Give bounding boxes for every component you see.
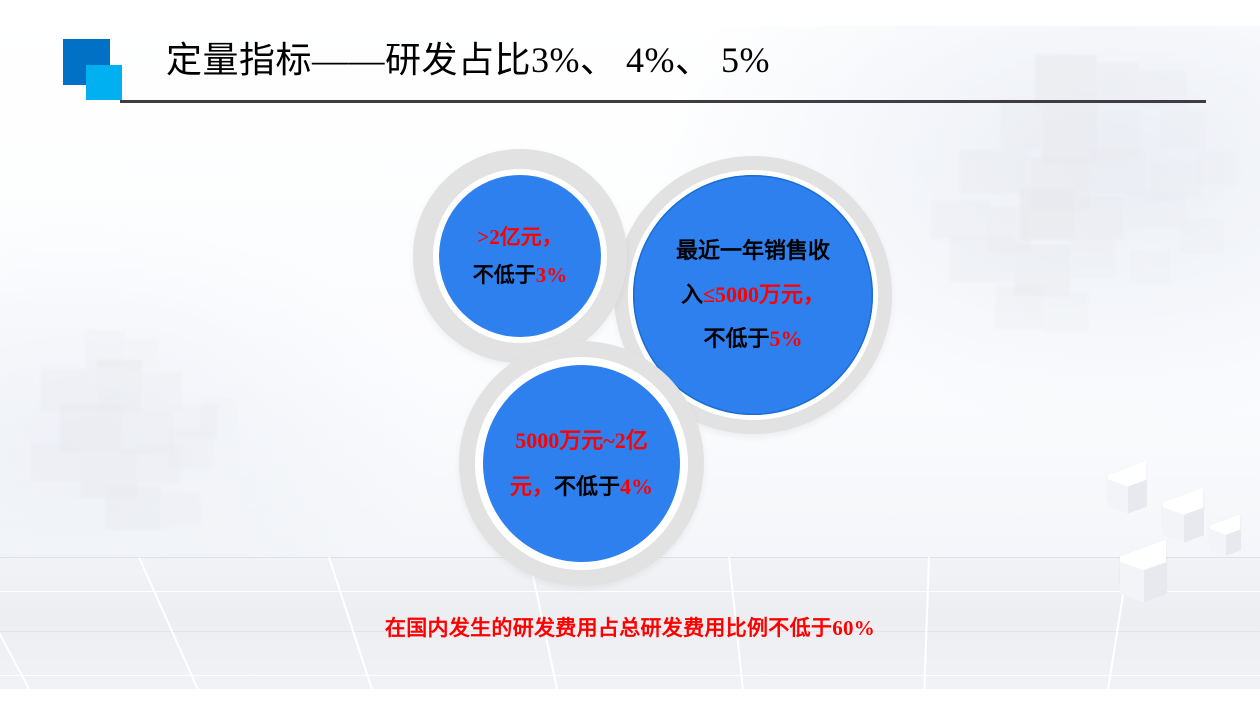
bubble-label-run: 不低于 (703, 326, 769, 351)
bubble-label: 5000万元~2亿元，不低于4% (502, 418, 661, 510)
bubble-revenue-50m-to-200m[interactable]: 5000万元~2亿元，不低于4% (459, 341, 704, 586)
bubble-label: >2亿元，不低于3% (465, 218, 576, 294)
bubble-label-run: 5% (770, 326, 803, 351)
map-pixel-block (85, 330, 125, 368)
slide-bottom-margin (0, 689, 1260, 715)
bubble-disc: 5000万元~2亿元，不低于4% (483, 365, 680, 562)
logo-square-light (86, 65, 122, 100)
map-pixel-block (122, 410, 174, 454)
map-pixel-block (995, 285, 1045, 329)
map-pixel-block (60, 404, 122, 452)
map-pixel-block (30, 442, 80, 482)
map-pixel-block (988, 206, 1032, 254)
map-pixel-block (1076, 196, 1124, 240)
map-pixel-block (96, 360, 142, 412)
bubble-label-run: 不低于 (554, 474, 620, 499)
bubble-label-run: 3% (536, 263, 568, 287)
bubble-label-run: 4% (620, 474, 653, 499)
map-pixel-block (1196, 150, 1236, 186)
map-pixel-block (1180, 218, 1224, 254)
map-pixel-block (960, 150, 1030, 194)
bubble-label-run: 元， (510, 474, 554, 499)
bubble-disc: >2亿元，不低于3% (439, 175, 601, 337)
map-pixel-block (80, 450, 138, 498)
title-divider (120, 100, 1206, 103)
map-pixel-block (142, 372, 182, 410)
map-pixel-block (1130, 250, 1170, 284)
map-pixel-block (1070, 238, 1116, 278)
bubble-label-run: ≤5000万元， (703, 282, 825, 307)
map-pixel-block (125, 338, 159, 370)
slide-canvas: 定量指标——研发占比3%、 4%、 5% >2亿元，不低于3% 最近一年销售收入… (0, 0, 1260, 715)
map-pixel-block (161, 492, 201, 528)
bubble-label-run: 最近一年销售收 (676, 238, 830, 263)
map-pixel-block (1030, 158, 1090, 210)
map-pixel-block (1150, 160, 1202, 200)
bubble-label-run: 入 (681, 282, 703, 307)
map-pixel-block (138, 444, 182, 484)
map-pixel-block (1090, 150, 1146, 194)
page-title: 定量指标——研发占比3%、 4%、 5% (166, 36, 770, 84)
map-pixel-block (168, 430, 214, 470)
map-pixel-block (1045, 292, 1089, 332)
map-pixel-block (930, 200, 990, 240)
footnote-text: 在国内发生的研发费用占总研发费用比例不低于60% (0, 612, 1260, 642)
map-pixel-block (105, 486, 161, 530)
map-pixel-block (200, 398, 236, 432)
bubble-label-run: 不低于 (473, 263, 536, 287)
map-pixel-block (40, 368, 96, 412)
map-pixel-block (1126, 190, 1186, 228)
bubble-label: 最近一年销售收入≤5000万元，不低于5% (668, 229, 838, 361)
bubble-revenue-over-200m[interactable]: >2亿元，不低于3% (413, 149, 627, 363)
title-bar: 定量指标——研发占比3%、 4%、 5% (0, 0, 1260, 118)
map-pixel-block (1020, 188, 1076, 240)
map-pixel-block (174, 404, 218, 440)
bubble-label-run: >2亿元， (477, 225, 562, 249)
bubble-label-run: 5000万元~2亿 (515, 428, 647, 453)
map-pixel-block (950, 236, 1014, 282)
map-pixel-block (1014, 244, 1070, 296)
